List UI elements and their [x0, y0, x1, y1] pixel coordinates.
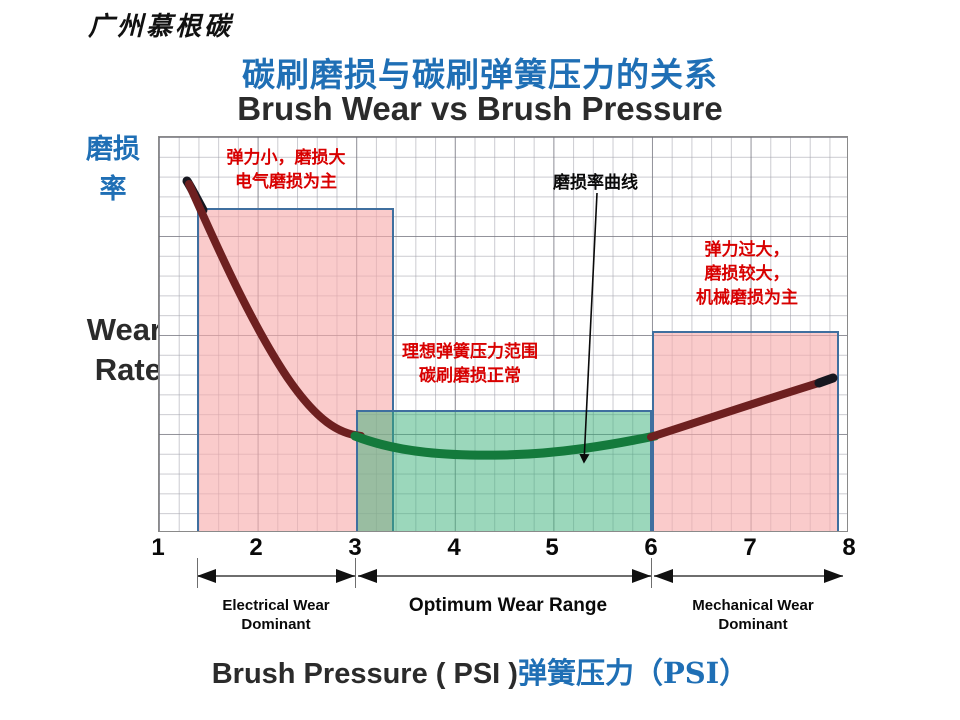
annotation-electrical-wear-line1: 弹力小，磨损大: [196, 146, 376, 170]
region-captions: Electrical Wear Dominant Optimum Wear Ra…: [140, 596, 870, 644]
y-axis-label-en: Wear Rate: [40, 310, 162, 390]
page-title-en: Brush Wear vs Brush Pressure: [0, 90, 960, 128]
annotation-mechanical-wear: 弹力过大， 磨损较大， 机械磨损为主: [657, 238, 837, 310]
range-arrows-svg: [140, 556, 870, 590]
annotation-electrical-wear-line2: 电气磨损为主: [196, 170, 376, 194]
x-axis-title-en: Brush Pressure ( PSI ): [212, 658, 518, 690]
range-separator-mid-right: [651, 558, 652, 588]
annotation-mechanical-wear-line2: 磨损较大，: [657, 262, 837, 286]
x-axis-title: Brush Pressure ( PSI )弹簧压力（PSI）: [0, 650, 960, 692]
region-caption-mechanical: Mechanical Wear Dominant: [660, 596, 846, 634]
range-separator-mid-left: [355, 558, 356, 588]
region-caption-optimum: Optimum Wear Range: [367, 596, 649, 615]
slide-root: 广州慕根碳 碳刷磨损与碳刷弹簧压力的关系 Brush Wear vs Brush…: [0, 0, 960, 720]
wear-rate-curve: [159, 137, 848, 532]
chart-plot-area: [158, 136, 848, 532]
annotation-optimum-wear: 理想弹簧压力范围 碳刷磨损正常: [380, 340, 560, 388]
region-caption-electrical-line2: Dominant: [186, 615, 366, 634]
page-title-cn: 碳刷磨损与碳刷弹簧压力的关系: [0, 48, 960, 96]
region-caption-mechanical-line1: Mechanical Wear: [660, 596, 846, 615]
region-caption-optimum-line1: Optimum Wear Range: [367, 596, 649, 615]
annotation-optimum-wear-line1: 理想弹簧压力范围: [380, 340, 560, 364]
x-axis-title-cn: 弹簧压力（PSI）: [518, 656, 748, 690]
brand-logo: 广州慕根碳: [88, 6, 233, 43]
range-separator-left: [197, 558, 198, 588]
annotation-electrical-wear: 弹力小，磨损大 电气磨损为主: [196, 146, 376, 194]
y-axis-label-cn: 磨损率: [82, 130, 144, 210]
annotation-mechanical-wear-line3: 机械磨损为主: [657, 286, 837, 310]
y-axis-label-en-line2: Rate: [40, 350, 162, 390]
range-arrow-bars: [140, 556, 870, 590]
y-axis-label-en-line1: Wear: [40, 310, 162, 350]
annotation-optimum-wear-line2: 碳刷磨损正常: [380, 364, 560, 388]
region-caption-mechanical-line2: Dominant: [660, 615, 846, 634]
annotation-curve-callout: 磨损率曲线: [553, 172, 638, 194]
annotation-mechanical-wear-line1: 弹力过大，: [657, 238, 837, 262]
region-caption-electrical: Electrical Wear Dominant: [186, 596, 366, 634]
region-caption-electrical-line1: Electrical Wear: [186, 596, 366, 615]
